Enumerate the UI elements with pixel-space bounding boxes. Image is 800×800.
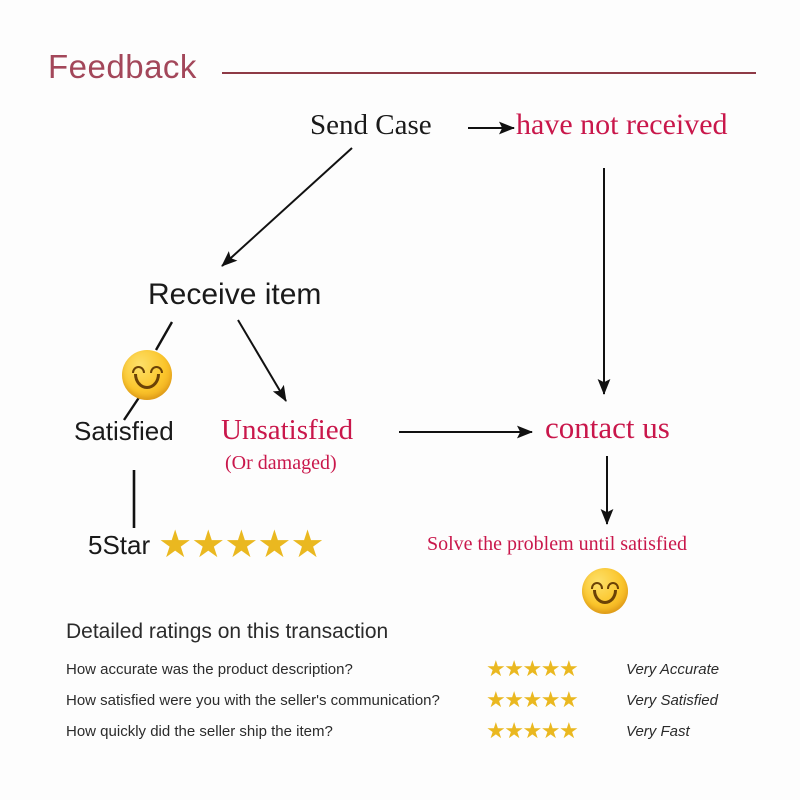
arrow-sendcase-to-receiveitem	[222, 148, 352, 266]
rating-label: Very Fast	[626, 723, 690, 740]
feedback-infographic: Feedback Send Case have not received Rec…	[0, 0, 800, 800]
five-star-rating: 5Star ★★★★★	[88, 526, 324, 564]
node-unsatisfied: Unsatisfied	[221, 414, 353, 447]
rating-label: Very Accurate	[626, 661, 719, 678]
star-icon: ★	[522, 658, 540, 680]
smiley-mouth-icon	[134, 374, 160, 389]
rating-question: How quickly did the seller ship the item…	[66, 723, 486, 740]
five-star-stars: ★★★★★	[158, 526, 323, 564]
smiley-mouth-icon	[593, 590, 617, 604]
node-solve-problem: Solve the problem until satisfied	[427, 533, 687, 556]
five-star-label: 5Star	[88, 530, 150, 561]
star-icon: ★	[522, 689, 540, 711]
smiley-eye-right-icon	[150, 366, 163, 373]
rating-row: How quickly did the seller ship the item…	[66, 716, 766, 747]
node-satisfied: Satisfied	[74, 416, 174, 447]
node-have-not-received: have not received	[516, 108, 728, 142]
page-title: Feedback	[48, 48, 197, 86]
node-contact-us: contact us	[545, 410, 670, 446]
star-icon: ★	[559, 720, 577, 742]
rating-label: Very Satisfied	[626, 692, 718, 709]
smiley-eye-right-icon	[607, 582, 619, 588]
title-divider	[222, 72, 756, 74]
detailed-ratings-panel: Detailed ratings on this transaction How…	[66, 620, 766, 747]
smiley-eye-left-icon	[132, 366, 145, 373]
star-icon: ★	[541, 689, 559, 711]
star-icon: ★	[504, 689, 522, 711]
line-receiveitem-to-smiley	[156, 322, 172, 350]
detailed-ratings-heading: Detailed ratings on this transaction	[66, 620, 766, 644]
smiling-face-icon	[122, 350, 172, 400]
star-icon: ★	[290, 526, 323, 564]
star-icon: ★	[486, 658, 504, 680]
node-or-damaged: (Or damaged)	[225, 452, 337, 475]
star-icon: ★	[559, 689, 577, 711]
star-icon: ★	[504, 658, 522, 680]
star-icon: ★	[158, 526, 191, 564]
rating-stars: ★★★★★	[486, 689, 626, 712]
rating-row: How accurate was the product description…	[66, 654, 766, 685]
rating-question: How accurate was the product description…	[66, 661, 486, 678]
arrow-receiveitem-to-unsatisfied	[238, 320, 286, 401]
star-icon: ★	[191, 526, 224, 564]
star-icon: ★	[486, 720, 504, 742]
star-icon: ★	[224, 526, 257, 564]
star-icon: ★	[559, 658, 577, 680]
star-icon: ★	[541, 720, 559, 742]
detailed-ratings-rows: How accurate was the product description…	[66, 654, 766, 747]
rating-question: How satisfied were you with the seller's…	[66, 692, 486, 709]
star-icon: ★	[522, 720, 540, 742]
star-icon: ★	[486, 689, 504, 711]
star-icon: ★	[504, 720, 522, 742]
smiley-eye-left-icon	[591, 582, 603, 588]
rating-stars: ★★★★★	[486, 720, 626, 743]
rating-row: How satisfied were you with the seller's…	[66, 685, 766, 716]
node-receive-item: Receive item	[148, 278, 321, 312]
node-send-case: Send Case	[310, 109, 432, 142]
smiling-face-icon	[582, 568, 628, 614]
rating-stars: ★★★★★	[486, 658, 626, 681]
star-icon: ★	[541, 658, 559, 680]
star-icon: ★	[257, 526, 290, 564]
